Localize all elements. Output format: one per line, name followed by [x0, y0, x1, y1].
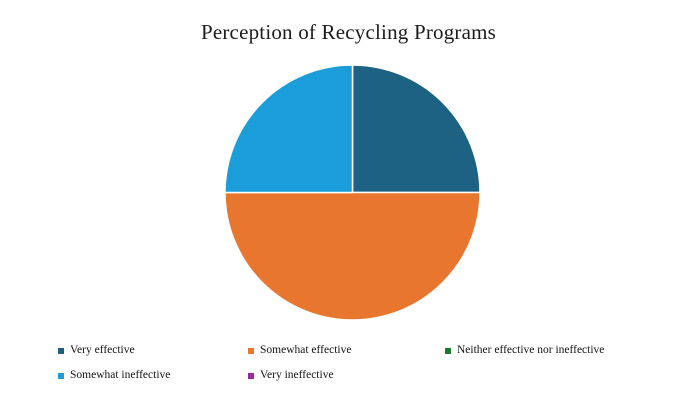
- pie-chart-figure: Perception of Recycling Programs Very ef…: [0, 0, 697, 412]
- legend-swatch-icon: [445, 348, 451, 354]
- legend-swatch-icon: [248, 373, 254, 379]
- chart-title: Perception of Recycling Programs: [0, 20, 697, 45]
- legend-item-label: Somewhat ineffective: [70, 369, 170, 382]
- pie-slice[interactable]: [225, 65, 353, 193]
- legend-item-label: Neither effective nor ineffective: [457, 344, 604, 357]
- pie-slice[interactable]: [353, 65, 481, 193]
- legend-item-label: Somewhat effective: [260, 344, 351, 357]
- legend-item-somewhat-ineffective[interactable]: Somewhat ineffective: [58, 369, 248, 382]
- legend-swatch-icon: [248, 348, 254, 354]
- legend-item-label: Very effective: [70, 344, 135, 357]
- pie-wedge-group: [225, 65, 480, 320]
- pie-slice[interactable]: [225, 193, 480, 321]
- chart-legend: Very effective Somewhat effective Neithe…: [58, 338, 678, 388]
- legend-item-label: Very ineffective: [260, 369, 334, 382]
- legend-item-neither-effective-nor-ineffective[interactable]: Neither effective nor ineffective: [445, 344, 678, 357]
- legend-item-somewhat-effective[interactable]: Somewhat effective: [248, 344, 445, 357]
- legend-item-very-ineffective[interactable]: Very ineffective: [248, 369, 445, 382]
- pie-svg: [224, 64, 481, 321]
- pie-chart-plot-area: [224, 64, 481, 321]
- legend-item-very-effective[interactable]: Very effective: [58, 344, 248, 357]
- legend-swatch-icon: [58, 348, 64, 354]
- legend-swatch-icon: [58, 373, 64, 379]
